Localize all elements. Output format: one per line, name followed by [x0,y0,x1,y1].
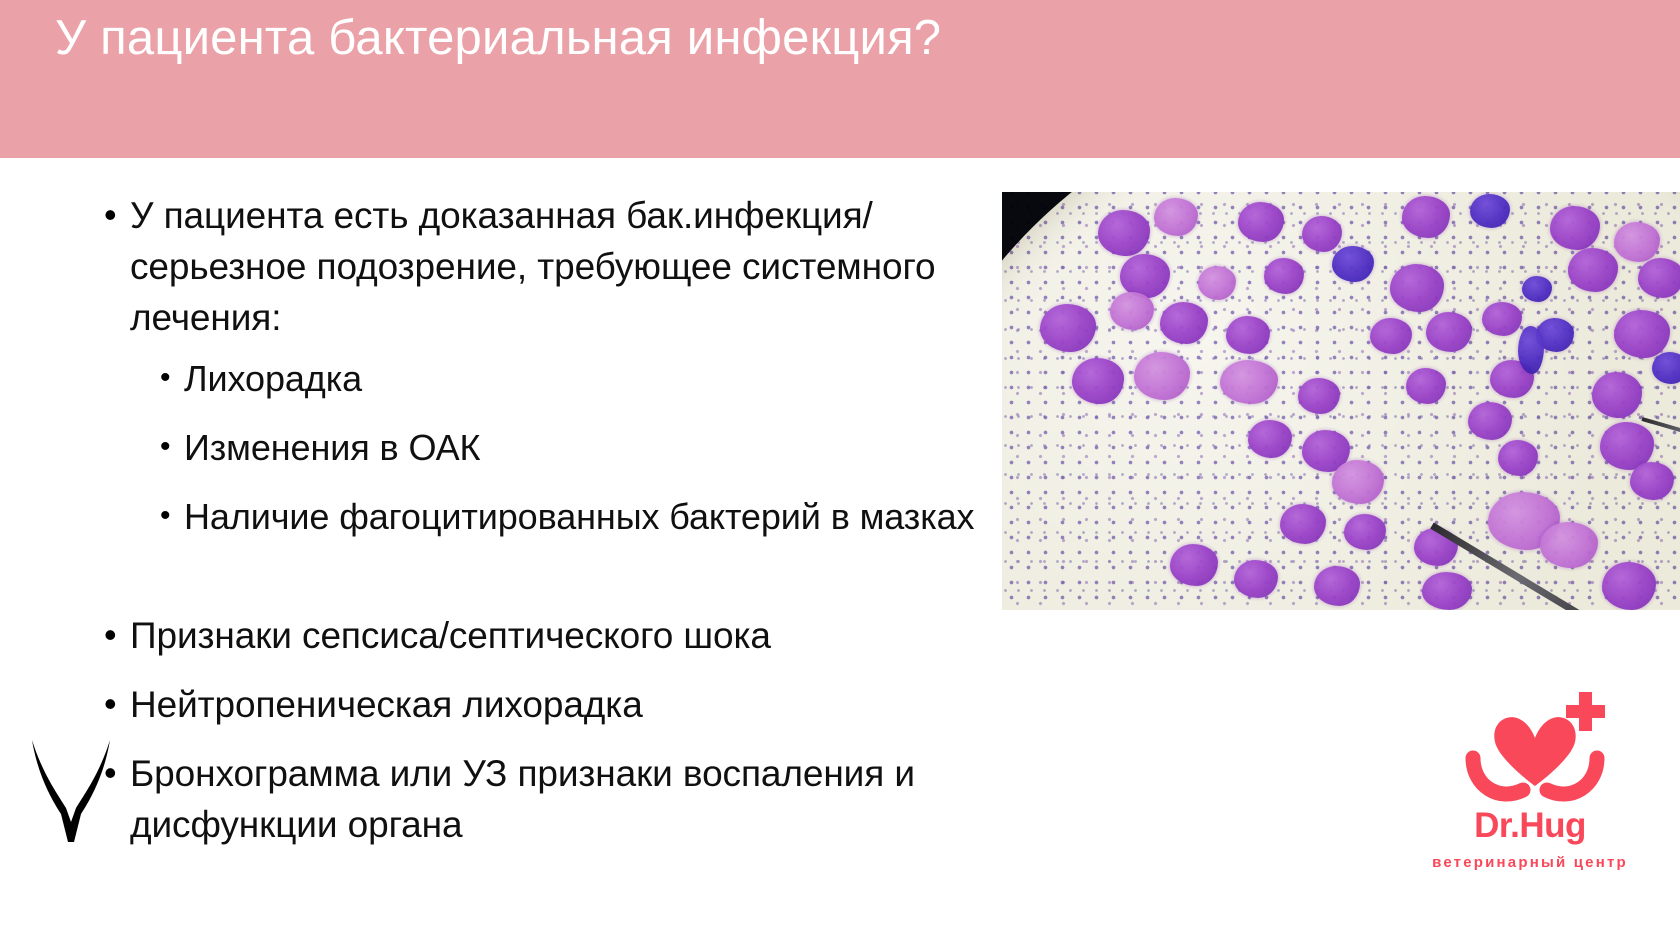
cell [1518,326,1544,374]
cell [1402,196,1450,238]
logo-wordmark: Dr.Hug [1400,806,1660,846]
cell [1040,304,1096,352]
cell [1426,312,1472,352]
cell [1422,572,1472,610]
bullet-icon: • [160,422,184,471]
list-item: • У пациента есть доказанная бак.инфекци… [104,190,984,343]
list-item-label: Лихорадка [184,353,362,404]
cell [1638,258,1680,298]
cell [1468,402,1512,440]
cell [1098,210,1150,256]
cell [1160,302,1208,344]
microscopy-photo [1002,192,1680,610]
list-item-label: Нейтропеническая лихорадка [130,679,643,730]
bullet-icon: • [104,610,130,659]
slide-header-band: У пациента бактериальная инфекция? [0,0,1680,158]
list-item: • Изменения в ОАК [160,422,1000,473]
cell [1470,194,1510,228]
cell [1482,302,1522,336]
list-item: • Бронхограмма или УЗ признаки воспалени… [104,748,1024,850]
cell [1630,462,1674,500]
cell [1198,266,1236,300]
cell [1248,420,1292,458]
cell [1264,258,1304,294]
cell [1298,378,1340,414]
page-title: У пациента бактериальная инфекция? [55,6,941,70]
cell [1110,292,1154,330]
cell [1332,460,1384,504]
cell [1170,544,1218,586]
cell [1134,352,1190,400]
bullet-icon: • [104,190,130,239]
heart-hug-cross-icon [1455,690,1615,810]
list-item: • Признаки сепсиса/септического шока [104,610,1004,661]
bullet-icon: • [104,679,130,728]
list-item: • Наличие фагоцитированных бактерий в ма… [160,491,1000,542]
cell [1154,198,1198,236]
cell [1332,246,1374,282]
cell [1522,276,1552,302]
brand-logo: Dr.Hug ветеринарный центр [1400,690,1660,915]
cell [1406,368,1446,404]
list-item-label: Изменения в ОАК [184,422,480,473]
cell [1614,310,1670,358]
list-item: • Нейтропеническая лихорадка [104,679,1004,730]
cell [1498,440,1538,476]
cell [1280,504,1326,544]
cell [1234,560,1278,598]
cell [1614,222,1660,262]
cell [1370,318,1412,354]
list-item-label: Наличие фагоцитированных бактерий в мазк… [184,491,974,542]
list-item-label: Бронхограмма или УЗ признаки воспаления … [130,748,1024,850]
list-item: • Лихорадка [160,353,1000,404]
cell [1314,566,1360,606]
cell [1568,248,1618,292]
list-item-label: Признаки сепсиса/септического шока [130,610,771,661]
cell [1302,216,1342,252]
cell [1072,358,1124,404]
bullet-icon: • [160,491,184,540]
logo-tagline: ветеринарный центр [1400,854,1660,871]
cell [1592,372,1642,418]
cell [1344,514,1386,550]
list-item-label: У пациента есть доказанная бак.инфекция/… [130,190,984,343]
cell [1550,206,1600,250]
v-checkmark-ornament-icon [28,730,114,850]
cell [1220,360,1278,404]
cell [1540,522,1598,568]
cell [1602,562,1656,610]
cell [1226,316,1270,354]
cell [1390,264,1444,312]
cell [1238,202,1284,242]
bullet-icon: • [160,353,184,402]
